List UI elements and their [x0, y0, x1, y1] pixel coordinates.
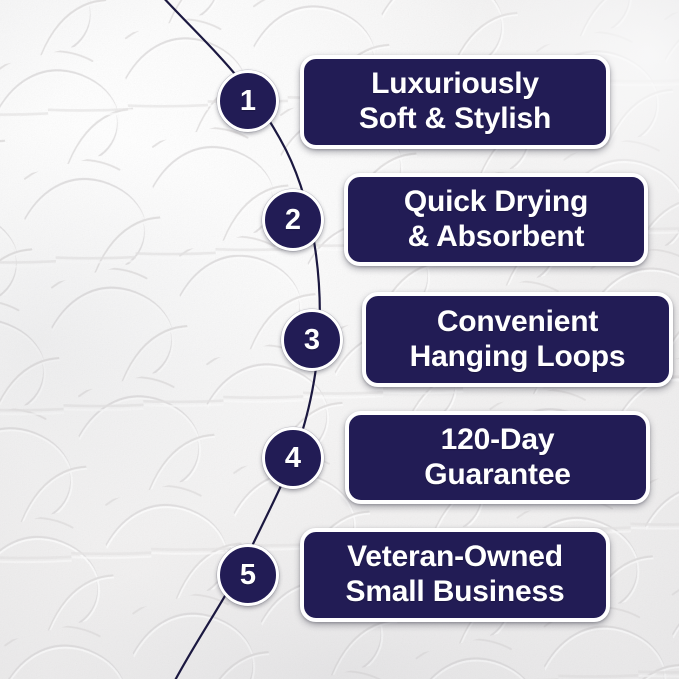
feature-pill-3[interactable]: ConvenientHanging Loops — [362, 292, 673, 387]
feature-pill-5[interactable]: Veteran-OwnedSmall Business — [300, 528, 610, 622]
feature-text-line: Quick Drying — [404, 185, 588, 220]
feature-callout-graphic: 1LuxuriouslySoft & Stylish2Quick Drying&… — [0, 0, 679, 679]
feature-text-line: & Absorbent — [408, 220, 585, 255]
feature-badge-2[interactable]: 2 — [262, 189, 324, 251]
feature-text-line: Hanging Loops — [410, 340, 626, 375]
feature-badge-5[interactable]: 5 — [217, 544, 279, 606]
feature-pill-2[interactable]: Quick Drying& Absorbent — [344, 173, 648, 266]
feature-badge-3[interactable]: 3 — [281, 309, 343, 371]
feature-text-line: Guarantee — [424, 458, 571, 493]
feature-pill-1[interactable]: LuxuriouslySoft & Stylish — [300, 55, 610, 149]
feature-text-line: Small Business — [346, 575, 565, 610]
feature-text-line: Soft & Stylish — [359, 102, 551, 137]
feature-pill-4[interactable]: 120-DayGuarantee — [345, 411, 650, 504]
feature-badge-4[interactable]: 4 — [262, 427, 324, 489]
feature-text-line: Luxuriously — [371, 67, 539, 102]
feature-text-line: Convenient — [437, 305, 598, 340]
feature-badge-1[interactable]: 1 — [217, 70, 279, 132]
feature-text-line: 120-Day — [441, 423, 555, 458]
feature-text-line: Veteran-Owned — [347, 540, 563, 575]
